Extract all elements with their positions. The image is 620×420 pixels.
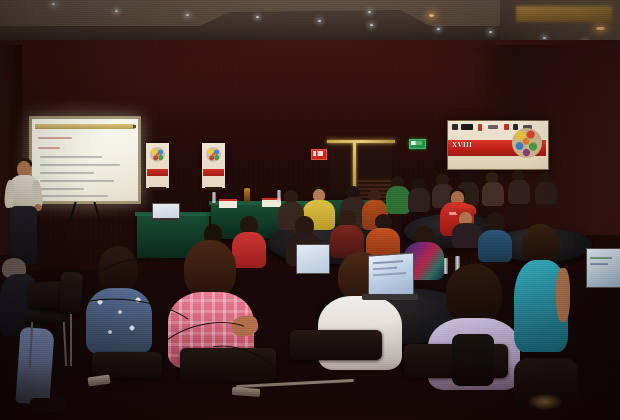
laptop-content-line (590, 263, 608, 265)
attendee-hair (375, 214, 392, 229)
attendee-hair (486, 212, 505, 232)
laptop-base (150, 218, 180, 221)
exit-sign-glyph-icon (411, 141, 422, 145)
attendee-teal-top (512, 224, 570, 352)
laptop-content-line (590, 257, 612, 259)
sponsor-logo-icon (452, 124, 458, 130)
attendee-torso (508, 180, 530, 204)
attendee-back-row-1 (408, 178, 430, 212)
downlight-icon (115, 10, 118, 12)
laptop-screen[interactable] (368, 252, 414, 299)
presenter-trousers (10, 206, 37, 264)
attendee-hair (339, 210, 356, 226)
attendee-back-row-5 (508, 170, 530, 204)
attendee-green-top (386, 176, 410, 214)
downlight-icon (52, 3, 55, 5)
downlight-icon (489, 31, 492, 33)
laptop-base (362, 294, 418, 300)
attendee-back-row-6 (535, 172, 557, 204)
rollup-red-band (147, 169, 168, 176)
slide-text-line (40, 172, 94, 174)
downlight-warm-icon (429, 14, 434, 17)
downlight-warm-icon (596, 27, 605, 30)
laptop-screen[interactable] (586, 248, 620, 288)
water-bottle (212, 192, 216, 203)
conference-room-photo: XVIII (0, 0, 620, 420)
ceiling-gold-panel (516, 6, 612, 22)
rollup-foot (149, 187, 166, 190)
attendee-torso (408, 188, 430, 212)
slide-text-line (40, 195, 108, 197)
slide-text-line (40, 188, 84, 190)
slide-cursor (133, 125, 136, 128)
carpet-shadow (0, 360, 620, 420)
slide-text-line (38, 137, 72, 139)
laptop-content-line (373, 260, 403, 264)
attendee-arm (556, 268, 570, 322)
attendee-torso (482, 182, 504, 206)
table-decor (244, 188, 250, 202)
globe-logo-icon (150, 147, 165, 162)
sponsor-logo-icon (478, 124, 482, 131)
attendee-back-row-4 (482, 172, 504, 206)
rollup-banner-left (146, 143, 169, 188)
slide-text-line (40, 156, 102, 158)
laptop-content-line (373, 272, 406, 276)
downlight-icon (256, 16, 259, 18)
attendee-hair (184, 240, 236, 298)
attendee-maroon-mid (330, 210, 364, 258)
attendee-hair (522, 224, 558, 264)
rollup-foot (205, 187, 222, 190)
downlight-icon (318, 20, 321, 22)
presenter (4, 158, 44, 266)
fire-extinguisher-glyph-icon (313, 151, 323, 156)
rollup-red-band (203, 169, 224, 176)
attendee-torso (386, 186, 410, 214)
downlight-icon (368, 11, 371, 13)
slide-text-line (40, 180, 114, 182)
name-card (219, 199, 237, 208)
laptop-screen[interactable] (296, 244, 330, 274)
globe-logo-icon (206, 147, 221, 162)
door-lintel-trim (327, 140, 395, 143)
downlight-icon (370, 24, 373, 26)
rollup-banner-right (202, 143, 225, 188)
downlight-icon (543, 37, 546, 39)
downlight-icon (186, 14, 189, 16)
screen-stand (72, 202, 98, 220)
attendee-hair (446, 264, 502, 324)
slide-title-bar (35, 124, 135, 129)
laptop-content-line (373, 267, 397, 271)
sponsor-logo-icon (504, 124, 509, 130)
slide-text-line (40, 164, 120, 166)
attendee-torso (478, 230, 512, 262)
sponsor-logo-icon (513, 124, 518, 130)
downlight-icon (437, 28, 440, 30)
banner-globe-graphic (512, 128, 542, 158)
chair-back[interactable] (290, 330, 382, 360)
slide-text-line (38, 147, 60, 149)
attendee-navy-top (478, 212, 512, 262)
attendee-torso (535, 182, 557, 204)
sponsor-logo-icon (488, 125, 498, 129)
sponsor-logo-icon (461, 124, 473, 130)
banner-edition-text: XVIII (452, 141, 472, 149)
